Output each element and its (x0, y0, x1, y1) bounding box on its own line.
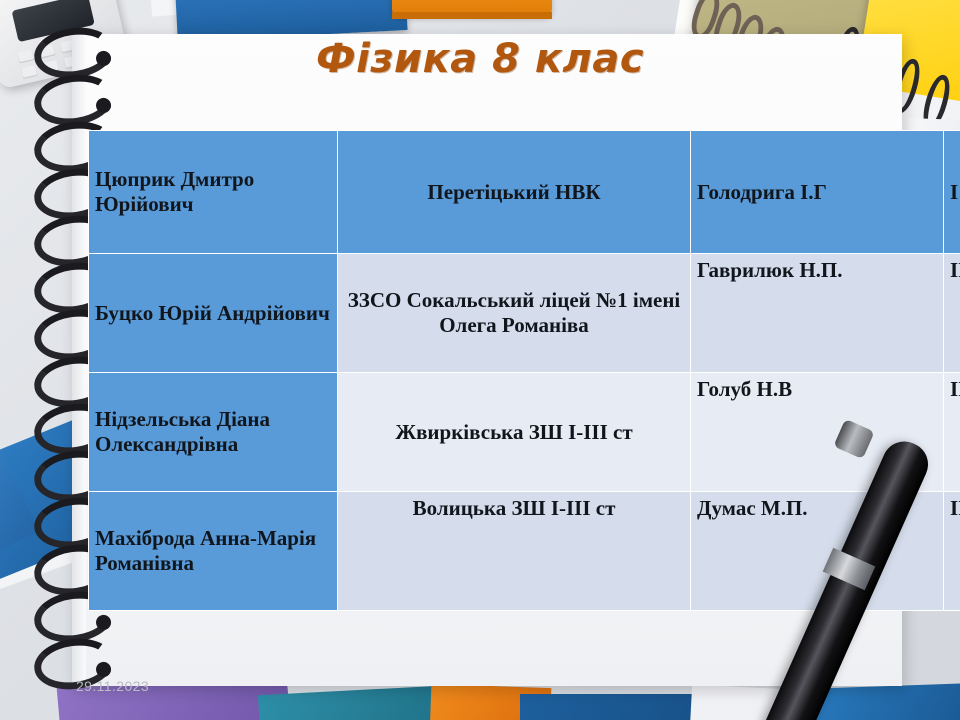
cell-school: Перетіцький НВК (338, 131, 691, 254)
cell-teacher: Гаврилюк Н.П. (691, 254, 944, 373)
table-row: Нідзельська Діана Олександрівна Жвирківс… (89, 373, 960, 492)
results-table: Цюприк Дмитро Юрійович Перетіцький НВК Г… (88, 130, 960, 611)
slide-date: 29.11.2023 (76, 678, 149, 694)
table-row: Цюприк Дмитро Юрійович Перетіцький НВК Г… (89, 131, 960, 254)
cell-teacher: Голодрига І.Г (691, 131, 944, 254)
cell-place: ІІІ (944, 373, 960, 492)
cell-school: ЗЗСО Сокальський ліцей №1 імені Олега Ро… (338, 254, 691, 373)
orange-folder-edge (392, 12, 552, 19)
cell-student-name: Махіброда Анна-Марія Романівна (89, 492, 338, 611)
table-row: Буцко Юрій Андрійович ЗЗСО Сокальський л… (89, 254, 960, 373)
cell-place: І (944, 131, 960, 254)
cell-student-name: Цюприк Дмитро Юрійович (89, 131, 338, 254)
cell-school: Жвирківська ЗШ І-ІІІ ст (338, 373, 691, 492)
slide-stage: Фізика 8 клас Цюприк Дмитро Юрійович Пер… (0, 0, 960, 720)
page-title: Фізика 8 клас (0, 36, 960, 82)
cell-school: Волицька ЗШ І-ІІІ ст (338, 492, 691, 611)
cell-place: ІІ (944, 254, 960, 373)
cell-place: ІІІ (944, 492, 960, 611)
cell-student-name: Буцко Юрій Андрійович (89, 254, 338, 373)
cell-student-name: Нідзельська Діана Олександрівна (89, 373, 338, 492)
